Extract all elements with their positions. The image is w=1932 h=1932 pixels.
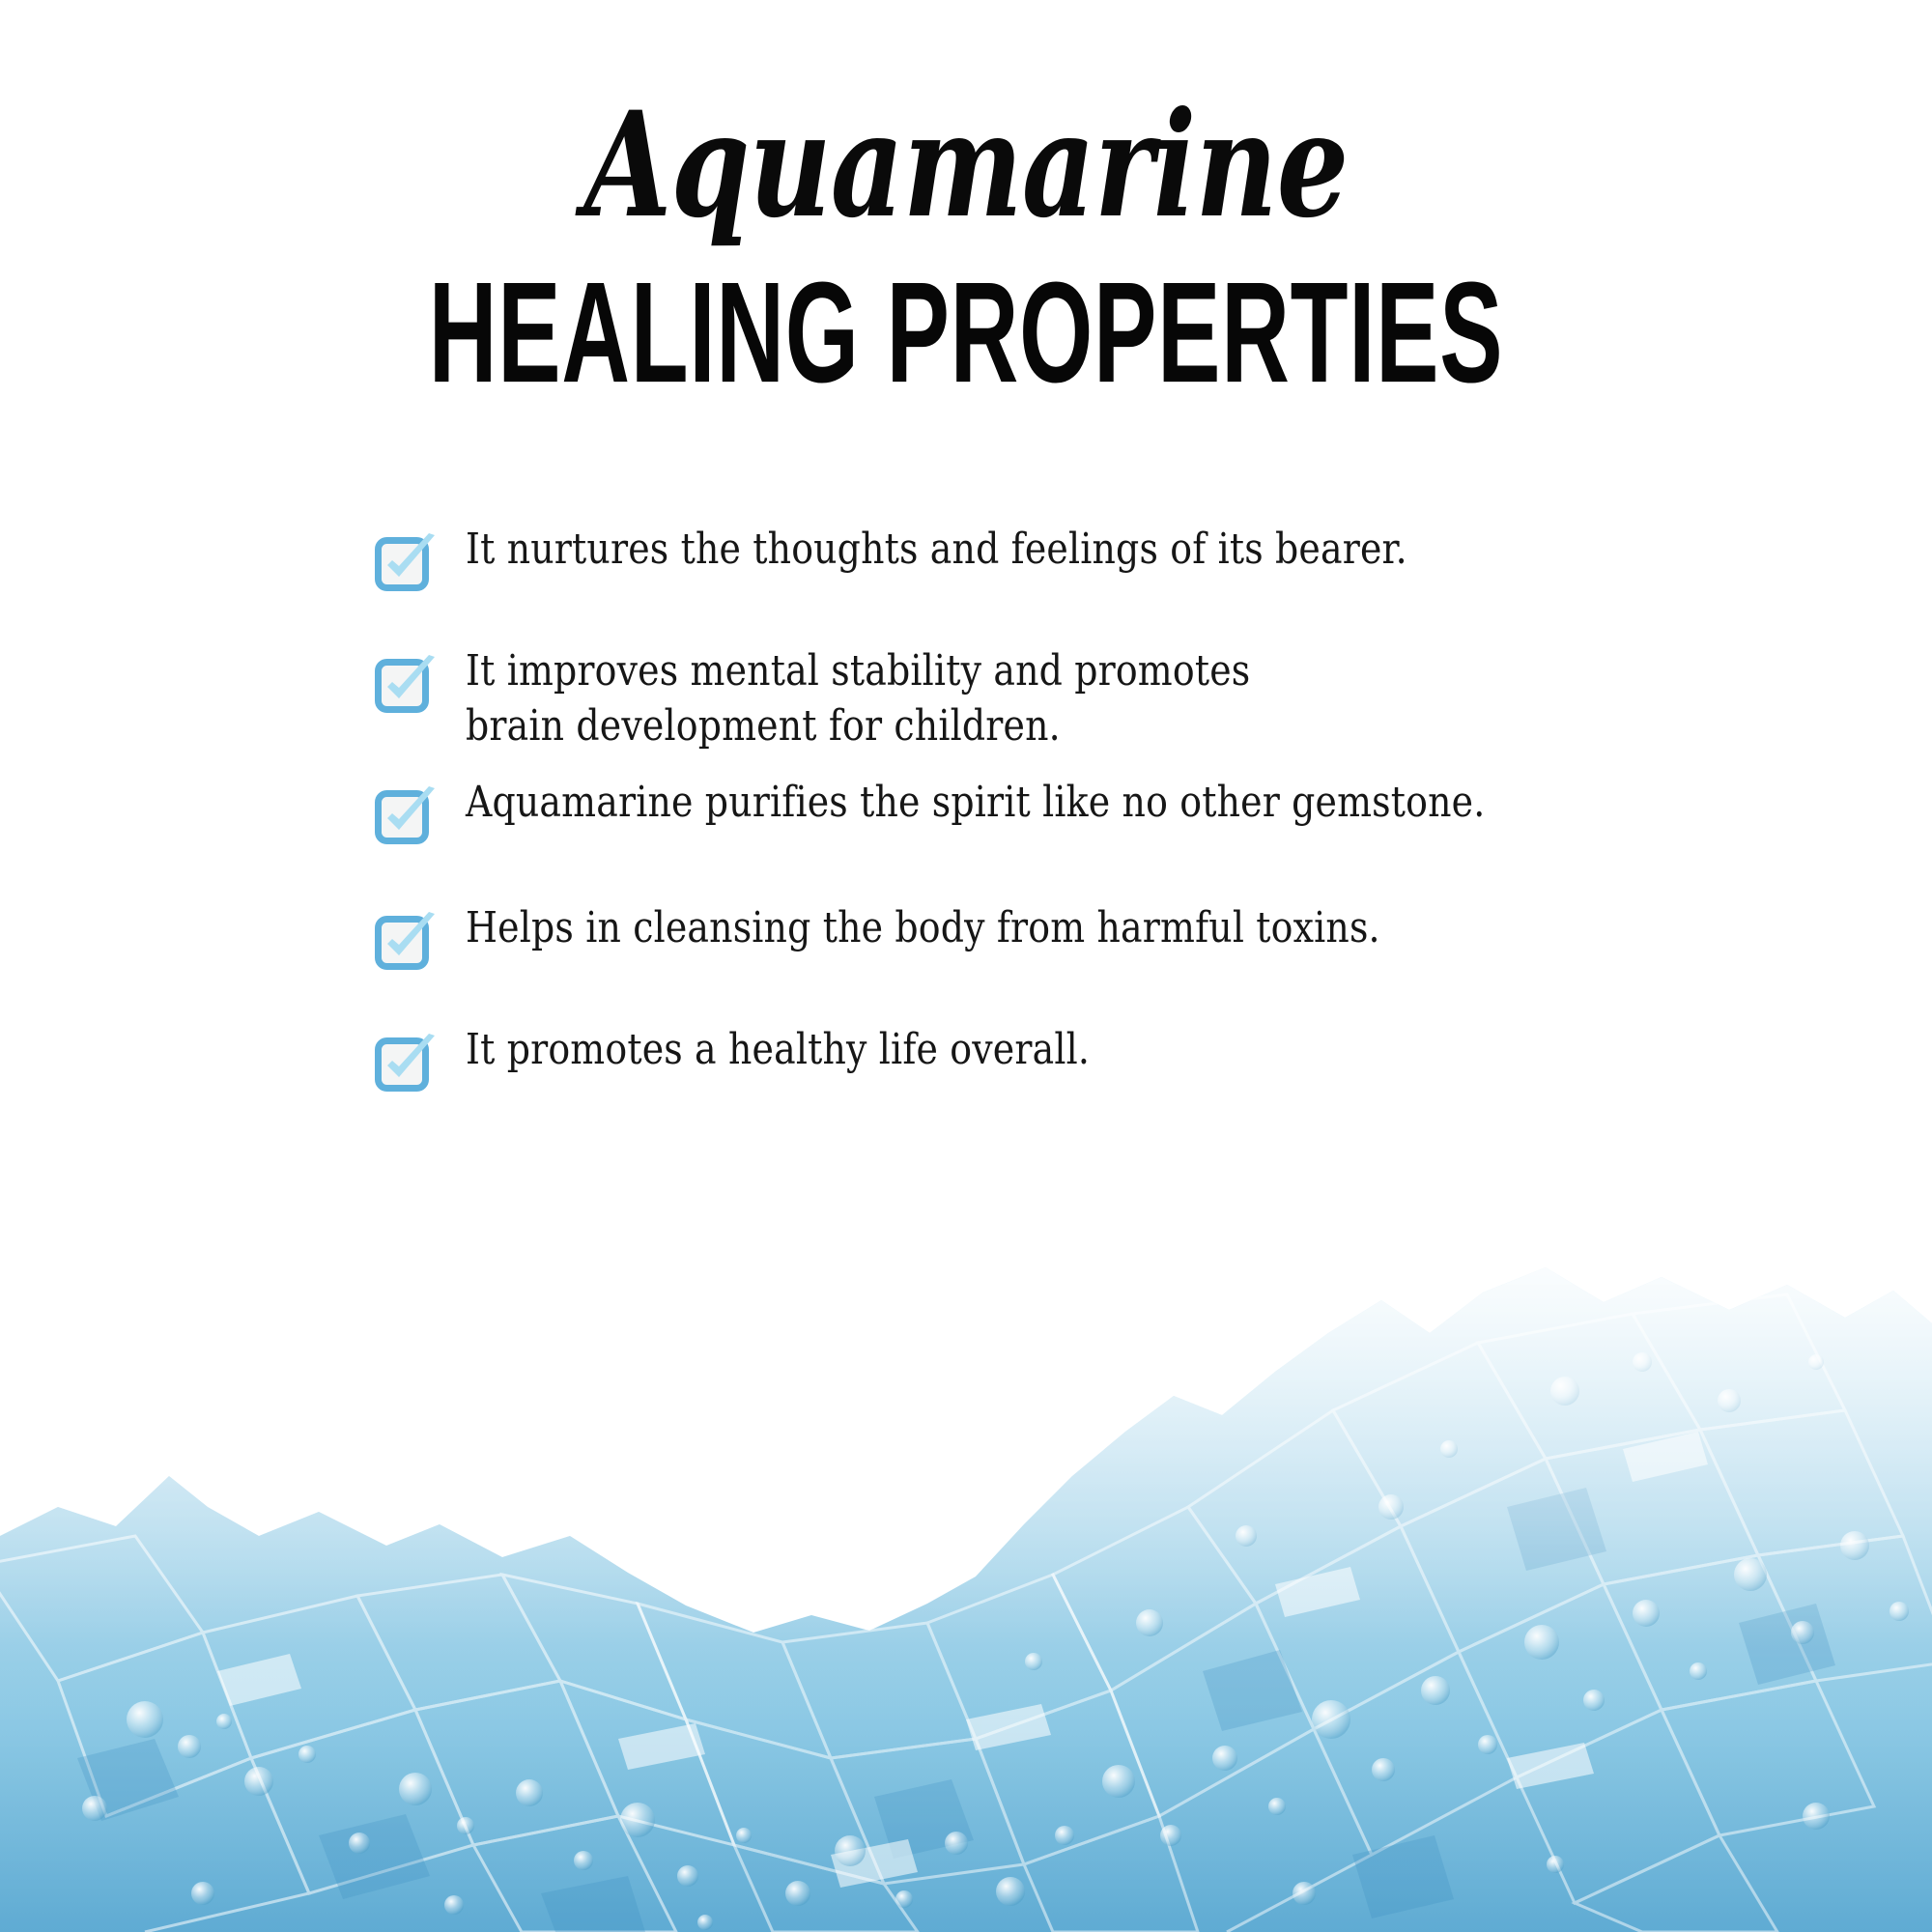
ice-cubes-photo bbox=[0, 1217, 1932, 1932]
page-title-script: Aquamarine bbox=[213, 93, 1719, 238]
checked-checkbox-icon bbox=[375, 655, 439, 715]
list-item: Aquamarine purifies the spirit like no o… bbox=[375, 775, 1843, 846]
checked-checkbox-icon bbox=[375, 1034, 439, 1094]
list-item-label: Helps in cleansing the body from harmful… bbox=[466, 900, 1380, 955]
checked-checkbox-icon bbox=[375, 786, 439, 846]
list-item: Helps in cleansing the body from harmful… bbox=[375, 900, 1843, 972]
poster-canvas: Aquamarine HEALING PROPERTIES It nurture… bbox=[0, 0, 1932, 1932]
checked-checkbox-icon bbox=[375, 912, 439, 972]
list-item-label: It nurtures the thoughts and feelings of… bbox=[466, 522, 1407, 577]
checked-checkbox-icon bbox=[375, 533, 439, 593]
page-subtitle: HEALING PROPERTIES bbox=[290, 261, 1642, 404]
healing-properties-list: It nurtures the thoughts and feelings of… bbox=[375, 522, 1843, 1094]
header: Aquamarine HEALING PROPERTIES bbox=[0, 93, 1932, 396]
list-item-label: It improves mental stability and promote… bbox=[466, 643, 1250, 753]
list-item-label: Aquamarine purifies the spirit like no o… bbox=[466, 775, 1485, 830]
ice-pile bbox=[0, 1217, 1932, 1932]
list-item: It promotes a healthy life overall. bbox=[375, 1022, 1843, 1094]
list-item: It improves mental stability and promote… bbox=[375, 643, 1843, 753]
list-item: It nurtures the thoughts and feelings of… bbox=[375, 522, 1843, 593]
list-item-label: It promotes a healthy life overall. bbox=[466, 1022, 1090, 1077]
